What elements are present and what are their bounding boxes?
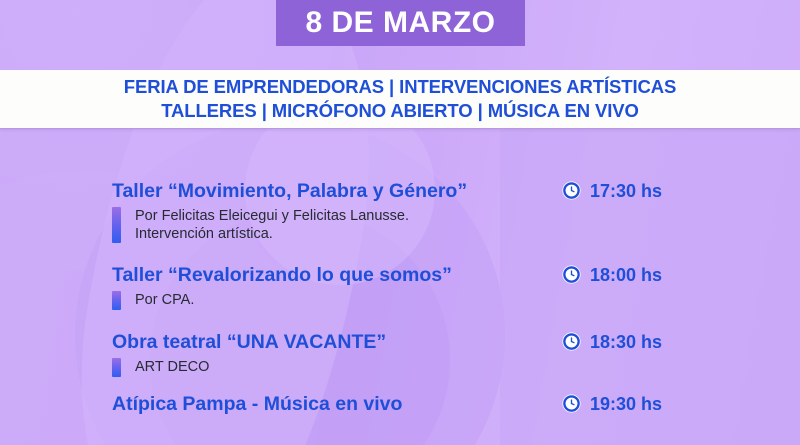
event-poster: 8 DE MARZO FERIA DE EMPRENDEDORAS | INTE… <box>0 0 800 445</box>
schedule-item-header: Obra teatral “UNA VACANTE” 18:30 hs <box>112 331 800 354</box>
schedule-item-detail-text: ART DECO <box>135 358 209 377</box>
schedule-item-time-group: 17:30 hs <box>562 181 662 200</box>
schedule-item-time-group: 19:30 hs <box>562 394 662 413</box>
date-chip: 8 DE MARZO <box>276 0 525 46</box>
schedule-item-time: 18:00 hs <box>590 266 662 284</box>
schedule-item-title: Taller “Movimiento, Palabra y Género” <box>112 180 562 203</box>
accent-bar <box>112 358 121 377</box>
schedule-item-detail: Por Felicitas Eleicegui y Felicitas Lanu… <box>112 207 800 243</box>
schedule-item-time: 19:30 hs <box>590 395 662 413</box>
schedule-item-time-group: 18:00 hs <box>562 265 662 284</box>
schedule-item-title: Taller “Revalorizando lo que somos” <box>112 264 562 287</box>
clock-icon <box>562 332 581 351</box>
accent-bar <box>112 207 121 243</box>
clock-icon <box>562 265 581 284</box>
schedule-list: Taller “Movimiento, Palabra y Género” 17… <box>0 128 800 445</box>
schedule-item-detail-text: Por Felicitas Eleicegui y Felicitas Lanu… <box>135 207 409 243</box>
subtitle-line-2: TALLERES | MICRÓFONO ABIERTO | MÚSICA EN… <box>161 99 639 123</box>
schedule-item-time: 17:30 hs <box>590 182 662 200</box>
clock-icon <box>562 181 581 200</box>
subtitle-band: FERIA DE EMPRENDEDORAS | INTERVENCIONES … <box>0 70 800 128</box>
schedule-item-detail-text: Por CPA. <box>135 291 194 310</box>
schedule-item: Taller “Revalorizando lo que somos” 18:0… <box>112 264 800 310</box>
accent-bar <box>112 291 121 310</box>
schedule-item-title: Atípica Pampa - Música en vivo <box>112 393 562 416</box>
schedule-item-detail: Por CPA. <box>112 291 800 310</box>
schedule-item-header: Taller “Movimiento, Palabra y Género” 17… <box>112 180 800 203</box>
page-title: 8 DE MARZO <box>305 8 495 38</box>
schedule-item-header: Taller “Revalorizando lo que somos” 18:0… <box>112 264 800 287</box>
schedule-item-time-group: 18:30 hs <box>562 332 662 351</box>
schedule-item: Obra teatral “UNA VACANTE” 18:30 hs ART … <box>112 331 800 377</box>
schedule-item-header: Atípica Pampa - Música en vivo 19:30 hs <box>112 393 800 416</box>
subtitle-line-1: FERIA DE EMPRENDEDORAS | INTERVENCIONES … <box>124 75 677 99</box>
clock-icon <box>562 394 581 413</box>
schedule-item-title: Obra teatral “UNA VACANTE” <box>112 331 562 354</box>
schedule-item-time: 18:30 hs <box>590 333 662 351</box>
schedule-item: Atípica Pampa - Música en vivo 19:30 hs <box>112 393 800 416</box>
schedule-item: Taller “Movimiento, Palabra y Género” 17… <box>112 180 800 243</box>
schedule-item-detail: ART DECO <box>112 358 800 377</box>
